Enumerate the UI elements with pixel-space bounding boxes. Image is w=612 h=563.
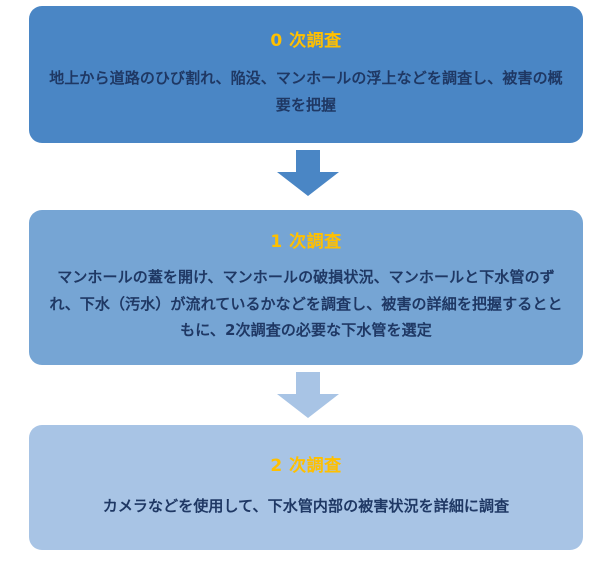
flow-step-1: 1 次調査 マンホールの蓋を開け、マンホールの破損状況、マンホールと下水管のずれ…	[29, 210, 583, 365]
flow-step-2-body: カメラなどを使用して、下水管内部の被害状況を詳細に調査	[103, 493, 510, 519]
arrow-down-icon-1	[277, 372, 339, 418]
flow-step-2: 2 次調査 カメラなどを使用して、下水管内部の被害状況を詳細に調査	[29, 425, 583, 550]
flow-step-2-title: 2 次調査	[270, 456, 341, 476]
flow-step-0-title: 0 次調査	[270, 31, 341, 51]
flow-step-0: 0 次調査 地上から道路のひび割れ、陥没、マンホールの浮上などを調査し、被害の概…	[29, 6, 583, 143]
flow-step-1-body: マンホールの蓋を開け、マンホールの破損状況、マンホールと下水管のずれ、下水（汚水…	[43, 264, 569, 343]
investigation-flowchart: 0 次調査 地上から道路のひび割れ、陥没、マンホールの浮上などを調査し、被害の概…	[0, 0, 612, 563]
flow-step-0-body: 地上から道路のひび割れ、陥没、マンホールの浮上などを調査し、被害の概要を把握	[46, 65, 566, 118]
arrow-down-icon-0	[277, 150, 339, 196]
flow-step-1-title: 1 次調査	[270, 232, 341, 252]
